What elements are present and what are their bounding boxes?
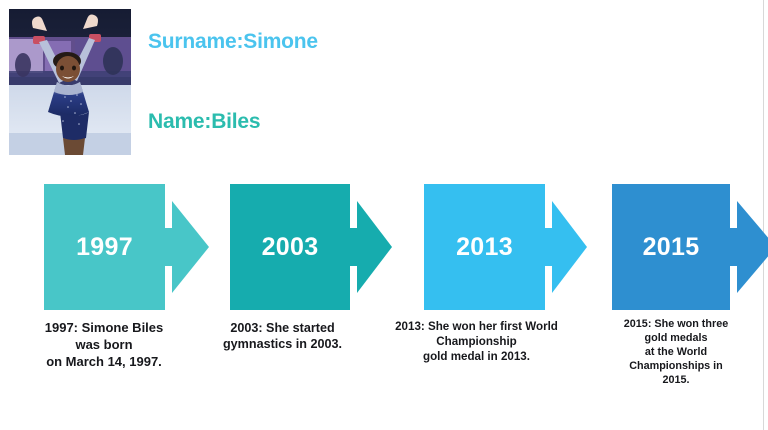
timeline-step-caption: 2015: She won threegold medalsat the Wor… [596, 317, 756, 387]
caption-line: Championship [374, 334, 579, 349]
timeline-step-arrow [424, 184, 587, 310]
slide-canvas: Surname:Simone Name:Biles 19972003201320… [0, 0, 768, 430]
caption-line: on March 14, 1997. [14, 354, 194, 371]
surname-label: Surname:Simone [148, 30, 318, 54]
timeline-step[interactable]: 1997 [44, 184, 209, 310]
caption-line: 2003: She started [200, 320, 365, 336]
caption-line: gold medal in 2013. [374, 349, 579, 364]
timeline-step[interactable]: 2003 [230, 184, 392, 310]
caption-line: gold medals [596, 331, 756, 345]
caption-line: 2013: She won her first World [374, 319, 579, 334]
name-label: Name:Biles [148, 110, 260, 134]
timeline-step-arrow [612, 184, 768, 310]
caption-line: gymnastics in 2003. [200, 336, 365, 352]
caption-line: at the World [596, 345, 756, 359]
athlete-photo-image [9, 9, 131, 155]
timeline-step-caption: 2003: She startedgymnastics in 2003. [200, 320, 365, 353]
timeline-step[interactable]: 2013 [424, 184, 587, 310]
caption-line: Championships in [596, 359, 756, 373]
timeline-step-arrow [230, 184, 392, 310]
timeline-step-caption: 2013: She won her first WorldChampionshi… [374, 319, 579, 364]
timeline-step-caption: 1997: Simone Bileswas bornon March 14, 1… [14, 320, 194, 371]
timeline-step-arrow [44, 184, 209, 310]
timeline-step[interactable]: 2015 [612, 184, 768, 310]
athlete-photo [9, 9, 131, 155]
caption-line: 2015: She won three [596, 317, 756, 331]
caption-line: 2015. [596, 373, 756, 387]
caption-line: 1997: Simone Biles [14, 320, 194, 337]
caption-line: was born [14, 337, 194, 354]
